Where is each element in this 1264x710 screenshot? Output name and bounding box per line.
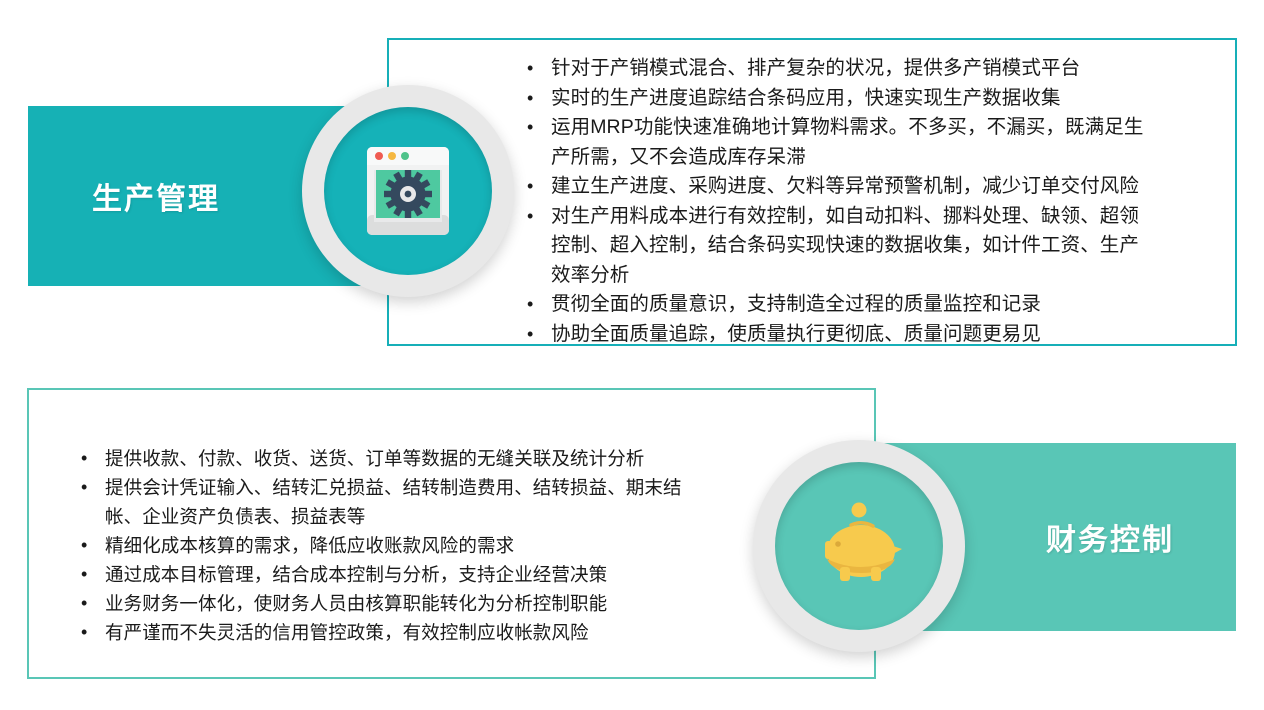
finance-icon-badge bbox=[753, 440, 965, 652]
list-item: 提供会计凭证输入、结转汇兑损益、结转制造费用、结转损益、期末结帐、企业资产负债表… bbox=[75, 473, 715, 531]
list-item: 业务财务一体化，使财务人员由核算职能转化为分析控制职能 bbox=[75, 589, 715, 618]
finance-icon-inner-circle bbox=[775, 462, 943, 630]
list-item: 运用MRP功能快速准确地计算物料需求。不多买，不漏买，既满足生产所需，又不会造成… bbox=[521, 113, 1153, 172]
list-item: 通过成本目标管理，结合成本控制与分析，支持企业经营决策 bbox=[75, 560, 715, 589]
finance-bullet-list: 提供收款、付款、收货、送货、订单等数据的无缝关联及统计分析 提供会计凭证输入、结… bbox=[75, 444, 715, 647]
list-item: 建立生产进度、采购进度、欠料等异常预警机制，减少订单交付风险 bbox=[521, 172, 1153, 202]
list-item: 协助全面质量追踪，使质量执行更彻底、质量问题更易见 bbox=[521, 320, 1153, 350]
production-icon-inner-circle bbox=[324, 107, 492, 275]
production-bullet-list: 针对于产销模式混合、排产复杂的状况，提供多产销模式平台 实时的生产进度追踪结合条… bbox=[521, 54, 1153, 349]
list-item: 针对于产销模式混合、排产复杂的状况，提供多产销模式平台 bbox=[521, 54, 1153, 84]
slide-canvas: 针对于产销模式混合、排产复杂的状况，提供多产销模式平台 实时的生产进度追踪结合条… bbox=[0, 0, 1264, 710]
list-item: 提供收款、付款、收货、送货、订单等数据的无缝关联及统计分析 bbox=[75, 444, 715, 473]
production-icon-badge bbox=[302, 85, 514, 297]
page-title: 生产管理 bbox=[92, 174, 220, 218]
list-item: 有严谨而不失灵活的信用管控政策，有效控制应收帐款风险 bbox=[75, 618, 715, 647]
browser-gear-icon bbox=[365, 145, 451, 237]
page-title: 财务控制 bbox=[1046, 515, 1174, 559]
list-item: 对生产用料成本进行有效控制，如自动扣料、挪料处理、缺领、超领控制、超入控制，结合… bbox=[521, 202, 1153, 291]
list-item: 贯彻全面的质量意识，支持制造全过程的质量监控和记录 bbox=[521, 290, 1153, 320]
list-item: 精细化成本核算的需求，降低应收账款风险的需求 bbox=[75, 531, 715, 560]
piggy-bank-icon bbox=[813, 501, 905, 591]
list-item: 实时的生产进度追踪结合条码应用，快速实现生产数据收集 bbox=[521, 84, 1153, 114]
